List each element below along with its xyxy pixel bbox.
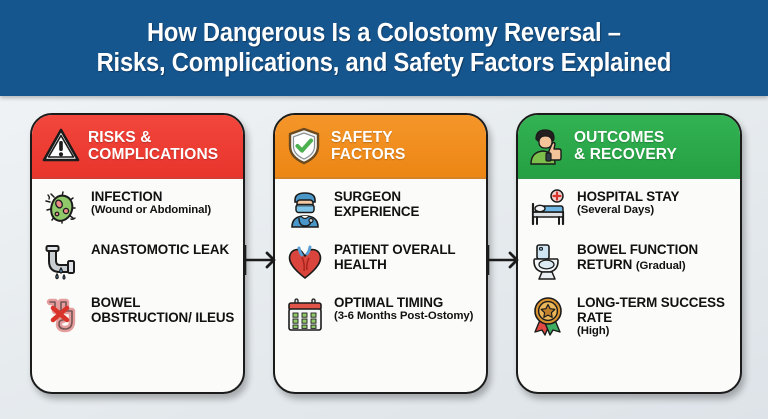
- infographic-canvas: How Dangerous Is a Colostomy Reversal – …: [0, 0, 768, 419]
- award-ribbon-icon: [527, 294, 569, 336]
- list-item-label: HOSPITAL STAY: [577, 189, 679, 204]
- list-item: HOSPITAL STAY (Several Days): [527, 188, 732, 230]
- hospital-bed-icon: [527, 188, 569, 230]
- header-banner: How Dangerous Is a Colostomy Reversal – …: [0, 0, 768, 96]
- list-item-text: PATIENT OVERALL HEALTH: [334, 241, 478, 272]
- list-item: LONG-TERM SUCCESS RATE (High): [527, 294, 732, 339]
- page-title-line2: Risks, Complications, and Safety Factors…: [97, 48, 672, 78]
- list-item-label: BOWEL FUNCTION RETURN (Gradual): [577, 242, 732, 274]
- list-item-sub: (Wound or Abdominal): [91, 204, 211, 217]
- card-header-outcomes: OUTCOMES & RECOVERY: [518, 115, 740, 179]
- list-item: BOWEL OBSTRUCTION/ ILEUS: [41, 294, 235, 336]
- list-item-sub: (Several Days): [577, 204, 679, 217]
- list-item: BOWEL FUNCTION RETURN (Gradual): [527, 241, 732, 283]
- bacteria-icon: [41, 188, 83, 230]
- list-item-sub: (High): [577, 325, 732, 338]
- card-risks-complications: RISKS & COMPLICATIONS INFECTION: [30, 113, 245, 394]
- list-item-text: HOSPITAL STAY (Several Days): [577, 188, 679, 218]
- blocked-intestine-icon: [41, 294, 83, 336]
- card-header-line2: COMPLICATIONS: [88, 146, 218, 163]
- toilet-icon: [527, 241, 569, 283]
- arrow-risks-to-safety: [243, 243, 281, 277]
- surgeon-icon: [284, 188, 326, 230]
- calendar-icon: [284, 294, 326, 336]
- card-safety-factors: SAFETY FACTORS SURGEON EXPERIENCE: [273, 113, 488, 394]
- list-item-text: BOWEL FUNCTION RETURN (Gradual): [577, 241, 732, 274]
- warning-triangle-icon: [41, 126, 81, 166]
- list-item: OPTIMAL TIMING (3-6 Months Post-Ostomy): [284, 294, 478, 336]
- leaking-pipe-icon: [41, 241, 83, 283]
- list-item-text: BOWEL OBSTRUCTION/ ILEUS: [91, 294, 235, 325]
- thumbs-up-person-icon: [527, 126, 567, 166]
- card-header-line2: FACTORS: [331, 146, 405, 163]
- shield-check-icon: [284, 126, 324, 166]
- card-header-text-outcomes: OUTCOMES & RECOVERY: [574, 129, 677, 163]
- list-item-text: LONG-TERM SUCCESS RATE (High): [577, 294, 732, 339]
- list-item: SURGEON EXPERIENCE: [284, 188, 478, 230]
- card-header-line2: & RECOVERY: [574, 146, 677, 163]
- list-item-text: INFECTION (Wound or Abdominal): [91, 188, 211, 218]
- card-header-line1: RISKS &: [88, 129, 152, 146]
- page-title-line1: How Dangerous Is a Colostomy Reversal –: [147, 19, 621, 47]
- card-body-safety: SURGEON EXPERIENCE PATIENT OVERALL HEALT…: [275, 179, 486, 392]
- list-item-text: ANASTOMOTIC LEAK: [91, 241, 229, 257]
- list-item-label: BOWEL OBSTRUCTION/ ILEUS: [91, 295, 235, 325]
- card-header-safety: SAFETY FACTORS: [275, 115, 486, 179]
- heart-icon: [284, 241, 326, 283]
- list-item-text: OPTIMAL TIMING (3-6 Months Post-Ostomy): [334, 294, 473, 324]
- arrow-safety-to-outcomes: [486, 243, 524, 277]
- list-item-label: OPTIMAL TIMING: [334, 295, 473, 310]
- card-header-risks: RISKS & COMPLICATIONS: [32, 115, 243, 179]
- card-header-text-risks: RISKS & COMPLICATIONS: [88, 129, 218, 163]
- list-item-label: LONG-TERM SUCCESS RATE: [577, 295, 732, 325]
- list-item-label: ANASTOMOTIC LEAK: [91, 242, 229, 257]
- card-header-line1: OUTCOMES: [574, 129, 664, 146]
- list-item: ANASTOMOTIC LEAK: [41, 241, 235, 283]
- card-header-line1: SAFETY: [331, 129, 393, 146]
- card-header-text-safety: SAFETY FACTORS: [331, 129, 405, 163]
- list-item-label: SURGEON EXPERIENCE: [334, 189, 478, 219]
- list-item-sub: (Gradual): [636, 260, 686, 272]
- page-title: How Dangerous Is a Colostomy Reversal – …: [86, 18, 683, 78]
- list-item-label: PATIENT OVERALL HEALTH: [334, 242, 478, 272]
- card-body-risks: INFECTION (Wound or Abdominal) ANASTOMOT…: [32, 179, 243, 392]
- card-outcomes-recovery: OUTCOMES & RECOVERY HOSPITAL STAY (Sever…: [516, 113, 742, 394]
- list-item-sub: (3-6 Months Post-Ostomy): [334, 310, 473, 323]
- card-body-outcomes: HOSPITAL STAY (Several Days) BOWEL FUNCT…: [518, 179, 740, 392]
- list-item: INFECTION (Wound or Abdominal): [41, 188, 235, 230]
- list-item: PATIENT OVERALL HEALTH: [284, 241, 478, 283]
- list-item-label: INFECTION: [91, 189, 211, 204]
- list-item-text: SURGEON EXPERIENCE: [334, 188, 478, 219]
